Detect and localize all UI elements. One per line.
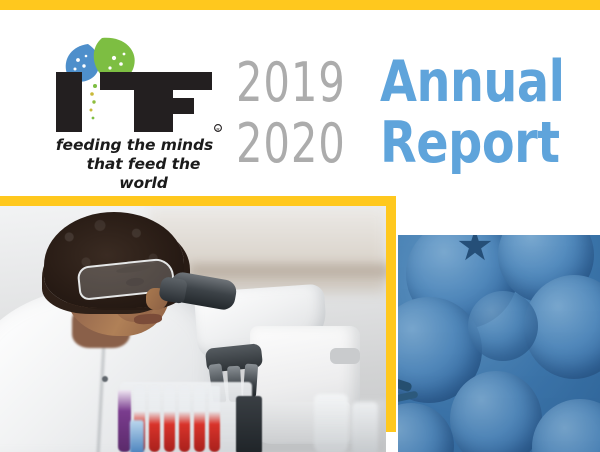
cover-imagery bbox=[0, 196, 600, 452]
test-tube bbox=[179, 386, 190, 452]
ift-logo-mark: R bbox=[42, 32, 227, 137]
lab-photo-frame-right bbox=[386, 196, 396, 432]
title-word-annual: Annual bbox=[380, 54, 565, 111]
ift-logo: R feeding the minds that feed the world bbox=[42, 32, 227, 182]
lab-coat-button bbox=[102, 376, 108, 382]
lab-scientist-photo bbox=[0, 206, 386, 452]
microscope-focus-knob bbox=[330, 348, 360, 364]
rack-dark-block bbox=[236, 396, 262, 452]
microscope-eyepiece bbox=[158, 276, 188, 304]
test-tube bbox=[209, 386, 220, 452]
title-word-report: Report bbox=[380, 115, 560, 172]
title-row-2: 2020 Report bbox=[236, 115, 596, 176]
test-tube-blue bbox=[130, 420, 144, 452]
test-tube bbox=[149, 386, 160, 452]
title-row-1: 2019 Annual bbox=[236, 54, 596, 115]
report-cover-page: R feeding the minds that feed the world … bbox=[0, 0, 600, 452]
cover-title: 2019 Annual 2020 Report bbox=[236, 54, 596, 184]
year-2019: 2019 bbox=[236, 56, 346, 110]
lab-glassware bbox=[352, 402, 378, 452]
ift-logo-svg: R bbox=[42, 32, 227, 137]
tagline-line-1: feeding the minds bbox=[56, 136, 213, 154]
year-2020: 2020 bbox=[236, 117, 346, 171]
tagline-line-2: that feed the world bbox=[42, 155, 227, 193]
test-tube bbox=[194, 386, 205, 452]
lab-shelf bbox=[190, 264, 386, 278]
cover-header: R feeding the minds that feed the world … bbox=[0, 10, 600, 196]
test-tube bbox=[164, 386, 175, 452]
lab-glassware bbox=[314, 394, 348, 452]
ift-tagline: feeding the minds that feed the world bbox=[42, 136, 227, 193]
blueberry-photo bbox=[398, 235, 600, 452]
lab-photo-frame-top bbox=[0, 196, 396, 206]
top-yellow-rule bbox=[0, 0, 600, 10]
berry-blue-duotone-overlay bbox=[398, 235, 600, 452]
